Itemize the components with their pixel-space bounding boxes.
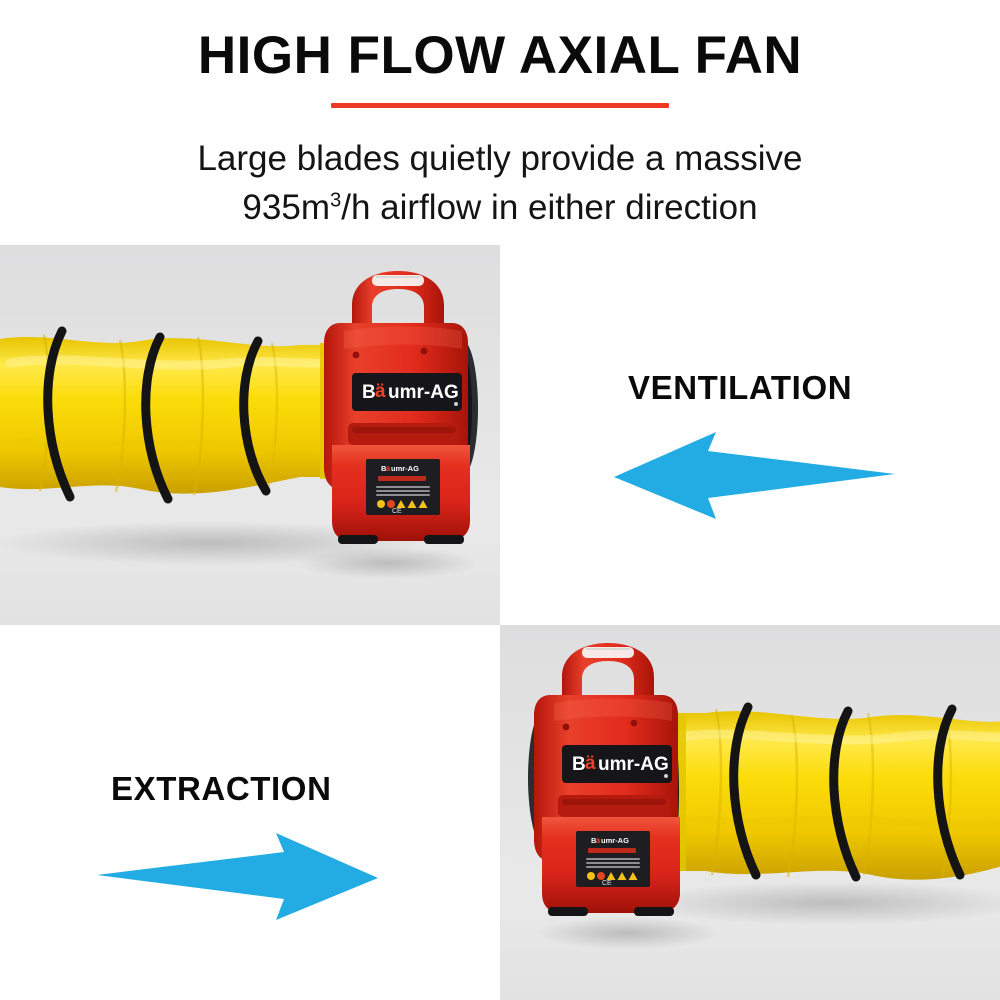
warning-icon: [387, 500, 395, 508]
subtitle-line-1: Large blades quietly provide a massive: [0, 134, 1000, 183]
warning-icon: [377, 500, 385, 508]
extraction-callout-panel: [0, 625, 500, 1000]
page-title: HIGH FLOW AXIAL FAN: [0, 26, 1000, 86]
brand-text-b: B: [362, 382, 376, 403]
extraction-duct: [657, 707, 1000, 880]
ce-mark: CE: [602, 880, 612, 887]
fan-shadow: [298, 547, 478, 579]
ventilation-duct: [0, 331, 347, 499]
fan-shadow: [536, 917, 720, 949]
airflow-value: 935m: [242, 188, 330, 227]
screw: [353, 352, 360, 359]
brand-text-a: ä: [375, 381, 386, 402]
ventilation-photo-panel: B ä umr-AG B ä umr-AG: [0, 245, 500, 625]
warning-icon: [597, 872, 605, 880]
rubber-foot: [338, 535, 378, 544]
airflow-suffix: /h airflow in either direction: [341, 188, 757, 227]
ventilation-arrow-left-icon: [612, 425, 897, 523]
duct-shadow: [630, 881, 1000, 925]
vent-slot: [348, 423, 460, 445]
svg-text:umr-AG: umr-AG: [391, 464, 419, 473]
brand-registered-mark: [454, 402, 458, 406]
fan-body: B ä umr-AG B ä umr-AG: [324, 271, 470, 544]
product-feature-image: HIGH FLOW AXIAL FAN Large blades quietly…: [0, 0, 1000, 1000]
brand-text-rest: umr-AG: [598, 754, 669, 775]
extraction-label: EXTRACTION: [111, 770, 332, 808]
subtitle-line-2: 935m3/h airflow in either direction: [0, 183, 1000, 232]
vent-slot: [558, 795, 670, 817]
brand-registered-mark: [664, 774, 668, 778]
brand-text-rest: umr-AG: [388, 382, 459, 403]
svg-text:umr-AG: umr-AG: [601, 836, 629, 845]
ce-mark: CE: [392, 508, 402, 515]
screw: [563, 724, 570, 731]
brand-text-a: ä: [585, 753, 596, 774]
title-divider: [331, 103, 669, 108]
ventilation-product-illustration: B ä umr-AG B ä umr-AG: [0, 245, 500, 625]
rubber-foot: [424, 535, 464, 544]
extraction-arrow-right-icon: [95, 826, 380, 924]
screw: [421, 348, 428, 355]
rubber-foot: [548, 907, 588, 916]
ventilation-label: VENTILATION: [628, 369, 852, 407]
airflow-exponent: 3: [330, 189, 341, 211]
brand-text-b: B: [572, 754, 586, 775]
subtitle: Large blades quietly provide a massive 9…: [0, 134, 1000, 232]
header-block: HIGH FLOW AXIAL FAN Large blades quietly…: [0, 0, 1000, 245]
fan-body: B ä umr-AG B ä umr-AG C: [534, 643, 680, 916]
warning-icon: [587, 872, 595, 880]
screw: [631, 720, 638, 727]
extraction-product-illustration: B ä umr-AG B ä umr-AG C: [500, 625, 1000, 1000]
rubber-foot: [634, 907, 674, 916]
extraction-photo-panel: B ä umr-AG B ä umr-AG C: [500, 625, 1000, 1000]
